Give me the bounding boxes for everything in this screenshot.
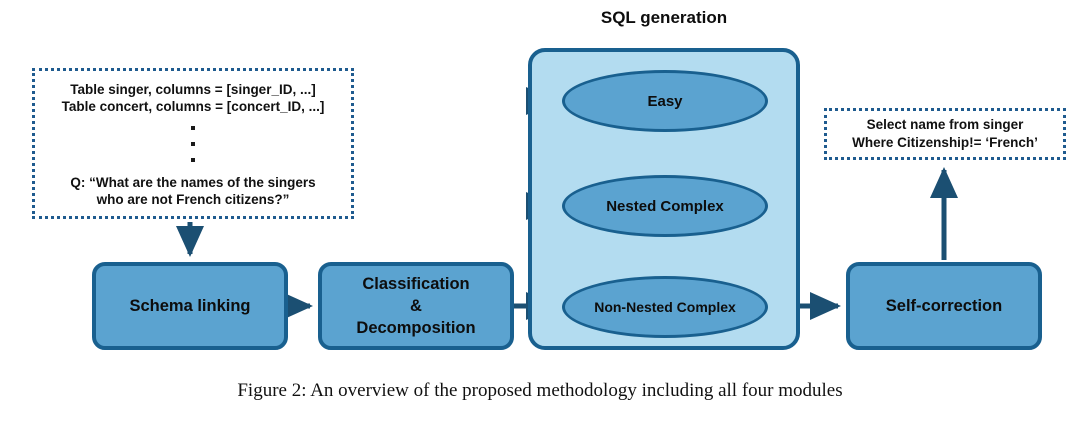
vertical-ellipsis-icon [191, 120, 195, 168]
figure-canvas: Table singer, columns = [singer_ID, ...]… [0, 0, 1080, 423]
sql-generation-title: SQL generation [528, 8, 800, 28]
output-sql-line-2: Where Citizenship!= ‘French’ [852, 134, 1038, 152]
sql-branch-non-nested-complex-label: Non-Nested Complex [594, 299, 736, 315]
module-classification-label-line2: & [356, 295, 475, 317]
input-question-line-1: Q: “What are the names of the singers [70, 174, 315, 191]
input-question-line-2: who are not French citizens?” [97, 191, 290, 208]
module-self-correction-label: Self-correction [886, 295, 1002, 317]
module-schema-linking: Schema linking [92, 262, 288, 350]
output-sql-line-1: Select name from singer [867, 116, 1024, 134]
module-classification-label-line1: Classification [356, 273, 475, 295]
module-classification-decomposition: Classification & Decomposition [318, 262, 514, 350]
module-classification-label-line3: Decomposition [356, 317, 475, 339]
output-sql-box: Select name from singer Where Citizenshi… [824, 108, 1066, 160]
sql-branch-easy: Easy [562, 70, 768, 132]
module-schema-linking-label: Schema linking [129, 295, 250, 317]
input-schema-line-1: Table singer, columns = [singer_ID, ...] [70, 81, 315, 98]
sql-branch-easy-label: Easy [647, 93, 682, 110]
input-schema-question-box: Table singer, columns = [singer_ID, ...]… [32, 68, 354, 219]
figure-caption: Figure 2: An overview of the proposed me… [0, 380, 1080, 402]
module-self-correction: Self-correction [846, 262, 1042, 350]
input-schema-line-2: Table concert, columns = [concert_ID, ..… [62, 98, 325, 115]
sql-branch-non-nested-complex: Non-Nested Complex [562, 276, 768, 338]
sql-branch-nested-complex-label: Nested Complex [606, 198, 724, 215]
sql-branch-nested-complex: Nested Complex [562, 175, 768, 237]
